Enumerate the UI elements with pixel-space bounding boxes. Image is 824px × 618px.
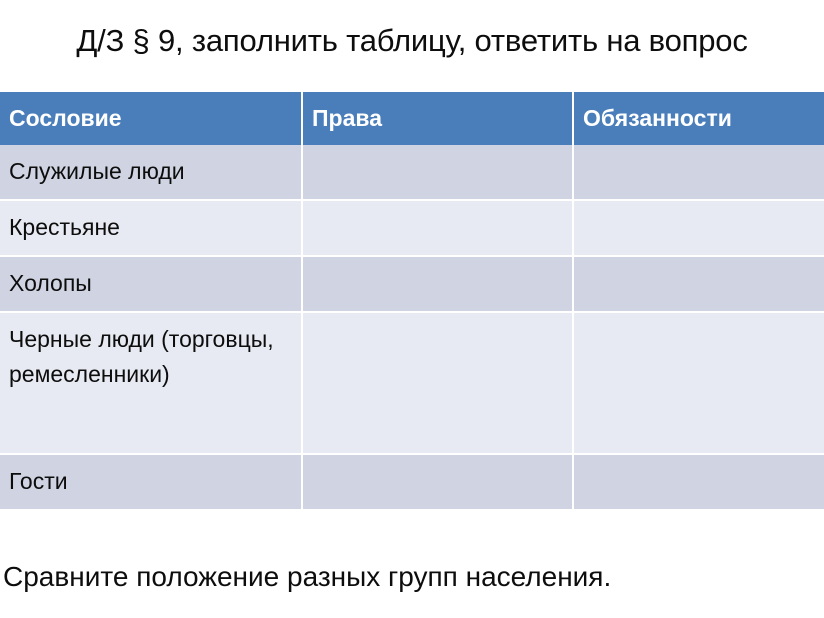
cell-rights <box>302 312 573 454</box>
slide-title: Д/З § 9, заполнить таблицу, ответить на … <box>0 19 824 62</box>
cell-duties <box>573 312 824 454</box>
cell-estate: Черные люди (торговцы, ремесленники) <box>0 312 302 454</box>
cell-estate: Служилые люди <box>0 145 302 200</box>
table-row: Черные люди (торговцы, ремесленники) <box>0 312 824 454</box>
cell-estate: Крестьяне <box>0 200 302 256</box>
estates-table-container: Сословие Права Обязанности Служилые люди… <box>0 92 824 511</box>
table-row: Служилые люди <box>0 145 824 200</box>
cell-duties <box>573 145 824 200</box>
cell-rights <box>302 256 573 312</box>
column-header-rights: Права <box>302 92 573 145</box>
cell-rights <box>302 200 573 256</box>
cell-duties <box>573 200 824 256</box>
cell-estate: Холопы <box>0 256 302 312</box>
estates-table: Сословие Права Обязанности Служилые люди… <box>0 92 824 511</box>
table-row: Холопы <box>0 256 824 312</box>
cell-rights <box>302 145 573 200</box>
slide-canvas: Д/З § 9, заполнить таблицу, ответить на … <box>0 0 824 618</box>
cell-rights <box>302 454 573 510</box>
comparison-question: Сравните положение разных групп населени… <box>3 557 703 597</box>
column-header-estate: Сословие <box>0 92 302 145</box>
cell-duties <box>573 256 824 312</box>
table-row: Крестьяне <box>0 200 824 256</box>
table-header-row: Сословие Права Обязанности <box>0 92 824 145</box>
cell-estate: Гости <box>0 454 302 510</box>
table-header: Сословие Права Обязанности <box>0 92 824 145</box>
cell-duties <box>573 454 824 510</box>
column-header-duties: Обязанности <box>573 92 824 145</box>
table-row: Гости <box>0 454 824 510</box>
table-body: Служилые люди Крестьяне Холопы Черные лю… <box>0 145 824 510</box>
